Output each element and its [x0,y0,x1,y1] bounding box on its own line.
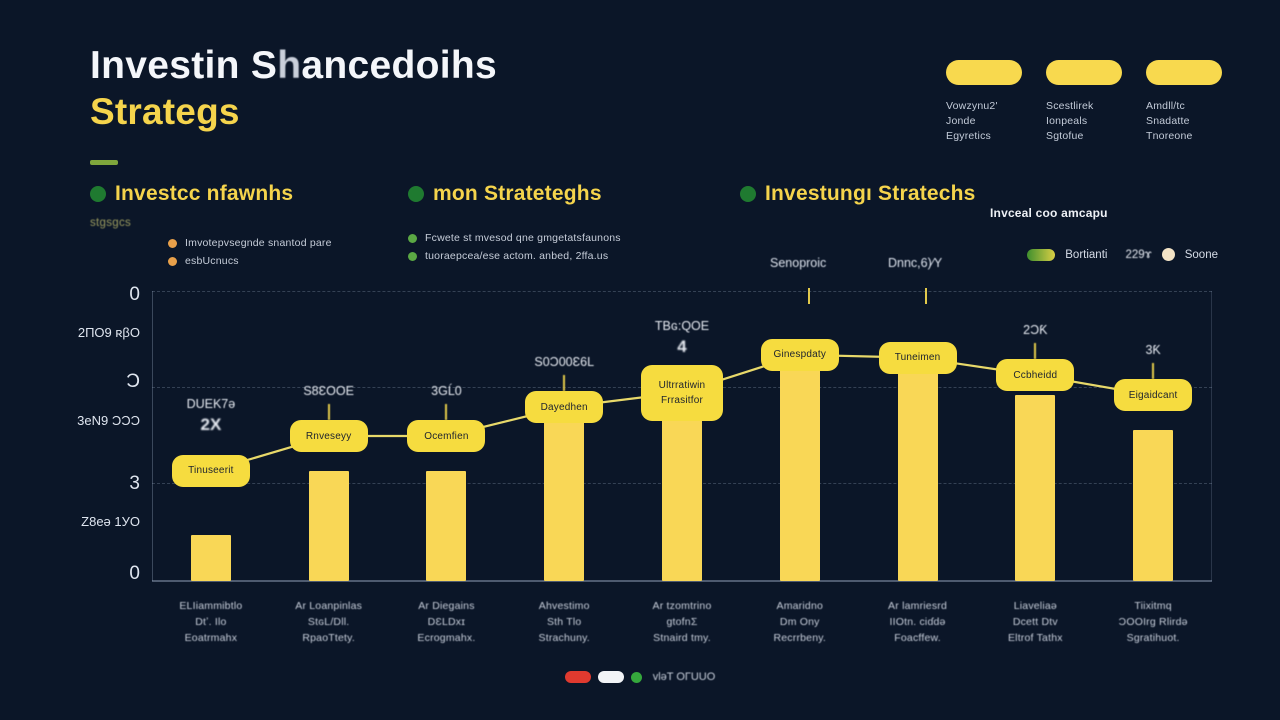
y-tick-label: 3eN9 ƆƆƆ [70,413,140,429]
trend-node-text: Dayedhen [541,400,588,415]
y-tick-label: 0 [70,284,140,306]
value-annotation: 3GĹ0 [386,384,506,398]
title-block: Investin Shancedoihs Strategs [90,42,497,135]
list-bullet-icon [168,257,177,266]
trend-node-label[interactable]: Tuneimen [879,342,957,374]
value-annotation: TBɢ:QOE4 [622,319,742,357]
list-item-label: esbUcnucs [185,255,239,267]
trend-node-text: Tuneimen [895,350,941,365]
value-annotation-text: 3Ƙ [1093,343,1213,357]
value-annotation-tick [563,375,565,391]
value-annotation: DUEK7ə2X [151,397,271,435]
y-tick-label: Ɔ [70,371,140,393]
list-bullet-icon [408,252,417,261]
trend-node-label[interactable]: UltrratiwinFrrasitfor [641,365,723,421]
legend-white-pill-icon [598,671,624,683]
plot-top-label: Senoproic [770,256,826,270]
list-item: Imvotepvsegnde snantod pare [168,237,332,249]
list-item-label: tuoraepcea/ese actom. anbed, 2ffa.us [425,250,608,262]
section-bullet-icon [408,186,424,202]
plot-top-label: Dnnc,6)⁄Y [888,256,942,270]
y-tick-label: 3 [70,473,140,495]
page-title-part-a: Investin S [90,44,277,87]
value-annotation: 2ƆƘ [975,323,1095,337]
slide-canvas: Investin Shancedoihs Strategs Vowzynu2'J… [0,0,1280,720]
bar-chart: TinuseeritRnveseyyOcemfienDayedhenUltrra… [152,291,1212,581]
section-title: Investcc nfawnhs [115,182,293,206]
legend-label-circle: Soone [1185,249,1218,261]
value-annotation-text: TBɢ:QOE [622,319,742,333]
legend-value: 229ɤ [1125,249,1151,261]
y-tick-label: 2ПO9 ʀβO [70,325,140,341]
badge-pill-icon [1146,60,1222,85]
trend-node-label[interactable]: Rnveseyy [290,420,368,452]
legend-green-dot-icon [631,672,642,683]
value-annotation: S0Ɔ00Ɛ6L [504,355,624,369]
y-tick-label: 0 [70,563,140,585]
trend-node-text: Rnveseyy [306,429,352,444]
value-annotation-text: S8ƐOOE [269,384,389,398]
list-item-label: Imvotepvsegnde snantod pare [185,237,332,249]
list-item: esbUcnucs [168,255,332,267]
section-bullet-list: Fcwete st mvesod qne gmgetatsfaunons tuo… [408,232,621,262]
list-item-label: Fcwete st mvesod qne gmgetatsfaunons [425,232,621,244]
section-bullet-list: Imvotepvsegnde snantod pare esbUcnucs [168,237,332,267]
accent-dash [90,160,118,165]
trend-node-text: Tinuseerit [188,463,234,478]
list-bullet-icon [168,239,177,248]
list-item: Fcwete st mvesod qne gmgetatsfaunons [408,232,621,244]
value-annotation-text: 3GĹ0 [386,384,506,398]
value-annotation-text: S0Ɔ00Ɛ6L [504,355,624,369]
trend-node-label[interactable]: Ccbheidd [996,359,1074,391]
value-annotation-highlight: 2X [151,415,271,435]
trend-node-text: Ultrratiwin [659,378,706,393]
top-badge-1[interactable]: Vowzynu2'JondeEgyretics [946,60,1022,144]
top-badge-group: Vowzynu2'JondeEgyretics ScestlirekIonpea… [946,60,1222,144]
section-header: Investungı Stratechs [740,182,976,206]
value-annotation-tick [445,404,447,420]
value-annotation-tick [328,404,330,420]
trend-node-text: Ginespdaty [773,347,826,362]
chart-legend: Bortianti 229ɤ Soone [1027,248,1218,261]
page-title-smear: h [277,44,301,87]
legend-gradient-icon [1027,249,1055,261]
trend-node-label[interactable]: Eigaidcant [1114,379,1192,411]
value-annotation-tick [1152,363,1154,379]
trend-node-label[interactable]: Dayedhen [525,391,603,423]
trend-node-text: Eigaidcant [1129,388,1178,403]
badge-pill-icon [946,60,1022,85]
trend-node-label[interactable]: Ocemfien [407,420,485,452]
list-bullet-icon [408,234,417,243]
legend-circle-icon [1162,248,1175,261]
value-annotation-text: 2ƆƘ [975,323,1095,337]
section-bullet-icon [740,186,756,202]
section-bullet-icon [90,186,106,202]
value-annotation: 3Ƙ [1093,343,1213,357]
value-annotation-highlight: 4 [622,337,742,357]
legend-red-pill-icon [565,671,591,683]
value-annotation: S8ƐOOE [269,384,389,398]
y-tick-label: Z8eə 1УO [70,514,140,530]
page-title-part-c: ancedoihs [301,44,497,87]
trend-node-label[interactable]: Tinuseerit [172,455,250,487]
legend-label-bar: Bortianti [1065,249,1107,261]
x-tick-label: TiixitmqƆOOІrg RlirdəSgratihuot. [1078,598,1228,646]
section-common-strategies: mon Strateteghs Fcwete st mvesod qne gmg… [408,182,621,268]
page-title-line-1: Investin Shancedoihs [90,42,497,89]
badge-caption: Amdll/tcSnadatteTnoreone [1146,99,1222,144]
trend-node-text: Ocemfien [424,429,468,444]
trend-node-label[interactable]: Ginespdaty [761,339,839,371]
section-title: Investungı Stratechs [765,182,976,206]
badge-caption: ScestlirekIonpealsSgtofue [1046,99,1122,144]
section-title: mon Strateteghs [433,182,602,206]
trend-node-text: Frrasitfor [661,393,703,408]
section-investing-strategies: Investungı Stratechs [740,182,976,206]
badge-pill-icon [1046,60,1122,85]
value-annotation-tick [1034,343,1036,359]
page-title-line-2: Strategs [90,89,497,135]
section-header: Investcc nfawnhs [90,182,332,206]
list-item: tuoraepcea/ese actom. anbed, 2ffa.us [408,250,621,262]
trend-node-text: Ccbheidd [1013,368,1057,383]
bottom-legend-label: ᴠƖǝT OГUUO [653,671,716,683]
value-annotation-text: DUEK7ə [151,397,271,411]
section-subtitle: stgsgcs [90,217,332,229]
bottom-legend: ᴠƖǝT OГUUO [0,671,1280,683]
badge-caption: Vowzynu2'JondeEgyretics [946,99,1022,144]
section-note: Invceal coo amcapu [990,206,1108,220]
top-badge-2[interactable]: ScestlirekIonpealsSgtofue [1046,60,1122,144]
section-investing-fundamentals: Investcc nfawnhs stgsgcs Imvotepvsegnde … [90,182,332,273]
section-header: mon Strateteghs [408,182,621,206]
top-badge-3[interactable]: Amdll/tcSnadatteTnoreone [1146,60,1222,144]
